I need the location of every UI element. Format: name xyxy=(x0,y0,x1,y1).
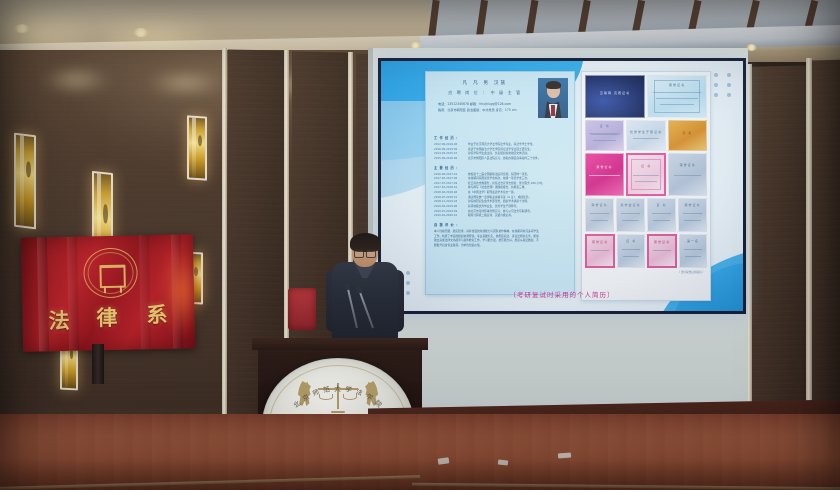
photo-hair xyxy=(546,81,561,89)
lecture-hall-photo: 凡 凡 男 汉族 应 聘 岗 位 ： 中 级 主 管 电话：1351234567… xyxy=(0,0,840,490)
resume-document: 凡 凡 男 汉族 应 聘 岗 位 ： 中 级 主 管 电话：1351234567… xyxy=(425,71,575,295)
certificate-row: 荣誉证书 证 书 荣誉证书 xyxy=(585,153,707,196)
resume-self-line: 断提升自身专业素养，为单位创造价值。 xyxy=(434,243,566,248)
certificate-item: 荣誉证书 xyxy=(647,75,707,118)
floor-debris xyxy=(558,453,571,459)
resume-section-education: 工 作 经 历 ： xyxy=(434,135,574,140)
certificates-footnote: （ 部分荣誉证书展示 ） xyxy=(585,270,707,274)
certificate-item: 互联网 竞赛证书 xyxy=(585,75,645,118)
certificate-item: 证 书 xyxy=(626,153,667,196)
certificate-item: 荣誉证书 xyxy=(585,198,614,232)
certificate-line xyxy=(622,220,638,221)
slide-caption: 〔考研复试时采用的个人简历〕 xyxy=(381,289,743,299)
certificate-label: 证 书 xyxy=(586,124,623,128)
projector-screen: 凡 凡 男 汉族 应 聘 岗 位 ： 中 级 主 管 电话：1351234567… xyxy=(378,58,746,314)
certificate-label: 荣誉证书 xyxy=(649,240,675,244)
certificate-item: 证 书 xyxy=(617,234,645,268)
stage-floor xyxy=(0,414,840,490)
resume-contact-line-1: 电话：13512345678 邮箱：hhujhiuyg@126.com xyxy=(438,102,534,107)
resume-section-experience: 主 要 经 历 ： xyxy=(434,165,574,170)
resume-section-self-eval: 自 我 评 价 ： xyxy=(434,222,574,227)
certificate-line xyxy=(652,213,671,214)
certificate-item: 荣誉证书 xyxy=(678,198,707,232)
certificate-line xyxy=(684,220,700,221)
wall-light-pool xyxy=(40,68,112,92)
resume-education-rows: 2012.09-2016.06毕业于北京师范大学法学院法学专业，获法学学士学位。… xyxy=(434,142,566,161)
presentation-slide: 凡 凡 男 汉族 应 聘 岗 位 ： 中 级 主 管 电话：1351234567… xyxy=(381,61,743,311)
certificate-item: 第一名 xyxy=(679,234,707,268)
wall-niche-light xyxy=(14,133,36,230)
seal-cn-text: 北 京 师 范 大 学 法 学 院 xyxy=(292,384,385,410)
certificate-label: 证 书 xyxy=(648,203,675,207)
certificate-line xyxy=(685,256,701,257)
chair-backrest xyxy=(288,288,316,330)
row-date: 2015.09-2016.06 xyxy=(434,156,464,161)
certificate-line xyxy=(622,249,641,250)
certificate-label: 优秀学生干部证书 xyxy=(627,130,664,134)
panel-divider xyxy=(222,48,227,424)
resume-position: 应 聘 岗 位 ： 中 级 主 管 xyxy=(436,90,534,96)
certificate-line xyxy=(674,175,700,176)
row-text: 取得计算机二级证书、英语六级证书。 xyxy=(468,213,566,218)
certificate-item: 证 书 xyxy=(585,120,624,151)
resume-row: 2015.09-2016.06北京市朝阳区人民法院实习，协助办理民商事案件三十余… xyxy=(434,156,566,161)
row-text: 北京市朝阳区人民法院实习，协助办理民商事案件三十余件。 xyxy=(468,156,566,161)
certificate-line xyxy=(684,249,703,250)
banner-warm-light xyxy=(164,248,200,334)
certificate-label: 证 书 xyxy=(618,239,644,243)
certificate-label: 荣誉证书 xyxy=(586,203,613,207)
resume-row: 2019.10-2020.01取得计算机二级证书、英语六级证书。 xyxy=(434,213,566,218)
certificate-label: 获 奖 xyxy=(669,131,706,135)
ding-tripod-icon xyxy=(99,265,125,289)
certificate-line xyxy=(653,220,669,221)
certificate-row: 荣誉证书 奖学金证书 证 书 荣誉证书 xyxy=(585,198,707,232)
certificates-panel: 互联网 竞赛证书 荣誉证书 证 书 xyxy=(581,71,711,301)
certificate-item: 获 奖 xyxy=(668,120,707,151)
certificate-line xyxy=(591,134,618,135)
photo-tie xyxy=(551,105,554,116)
resume-name: 凡 凡 男 汉族 xyxy=(436,80,534,86)
certificate-line xyxy=(660,104,695,105)
resume-contact-line-2: 籍贯：北京市朝阳区 政治面貌：中共党员 身高：175 cm xyxy=(438,108,534,113)
floor-reflection xyxy=(0,424,840,466)
certificate-row: 荣誉证书 证 书 荣誉证书 第一名 xyxy=(585,234,707,268)
certificate-line xyxy=(633,138,660,139)
wall-niche-light xyxy=(187,115,207,180)
wood-panel-right xyxy=(812,59,840,426)
floor-debris xyxy=(498,459,508,465)
banner-char: 法 xyxy=(48,305,70,335)
certificate-line xyxy=(653,250,672,251)
certificate-row: 证 书 优秀学生干部证书 获 奖 xyxy=(585,120,707,151)
certificate-item: 荣誉证书 xyxy=(647,234,677,268)
certificate-label: 互联网 竞赛证书 xyxy=(586,91,644,95)
certificate-line xyxy=(590,213,609,214)
certificate-item: 荣誉证书 xyxy=(585,153,624,196)
certificate-line xyxy=(623,256,639,257)
row-date: 2019.10-2020.01 xyxy=(434,213,464,218)
panel-divider-right xyxy=(806,58,812,426)
banner-pole xyxy=(92,344,104,384)
certificate-line xyxy=(589,175,620,176)
certificate-line xyxy=(635,181,657,182)
certificate-label: 荣誉证书 xyxy=(669,163,706,167)
certificate-line xyxy=(593,140,615,141)
resume-header: 凡 凡 男 汉族 应 聘 岗 位 ： 中 级 主 管 电话：1351234567… xyxy=(426,72,574,131)
banner-char: 律 xyxy=(96,302,118,332)
speaker-person xyxy=(332,236,398,344)
certificate-item: 荣誉证书 xyxy=(585,234,615,268)
wall-light-pool xyxy=(145,72,225,94)
certificate-line xyxy=(656,98,698,99)
eyeglasses-icon xyxy=(354,249,376,256)
certificate-label: 奖学金证书 xyxy=(617,203,644,207)
certificate-label: 荣誉证书 xyxy=(679,203,706,207)
certificate-line xyxy=(633,175,659,176)
certificate-label: 荣誉证书 xyxy=(648,83,706,87)
certificate-item: 荣誉证书 xyxy=(668,153,707,196)
certificate-line xyxy=(591,250,610,251)
certificate-item: 优秀学生干部证书 xyxy=(626,120,665,151)
resume-experience-rows: 2016.09-2017.01参加第十二届全国模拟法庭辩论赛，获团体一等奖。 2… xyxy=(434,172,566,218)
certificate-label: 荣誉证书 xyxy=(587,240,613,244)
resume-id-photo xyxy=(538,78,568,118)
wood-panel-right xyxy=(752,65,814,427)
certificate-line xyxy=(653,92,702,93)
certificate-label: 第一名 xyxy=(680,239,706,243)
certificate-line xyxy=(683,213,702,214)
certificate-item: 证 书 xyxy=(647,198,676,232)
certificate-label: 证 书 xyxy=(628,164,665,168)
certificate-line xyxy=(591,220,607,221)
certificate-row: 互联网 竞赛证书 荣誉证书 xyxy=(585,75,707,118)
certificate-item: 奖学金证书 xyxy=(616,198,645,232)
podium-top-surface xyxy=(252,338,428,350)
certificate-label: 荣誉证书 xyxy=(586,165,623,169)
certificate-line xyxy=(621,213,640,214)
